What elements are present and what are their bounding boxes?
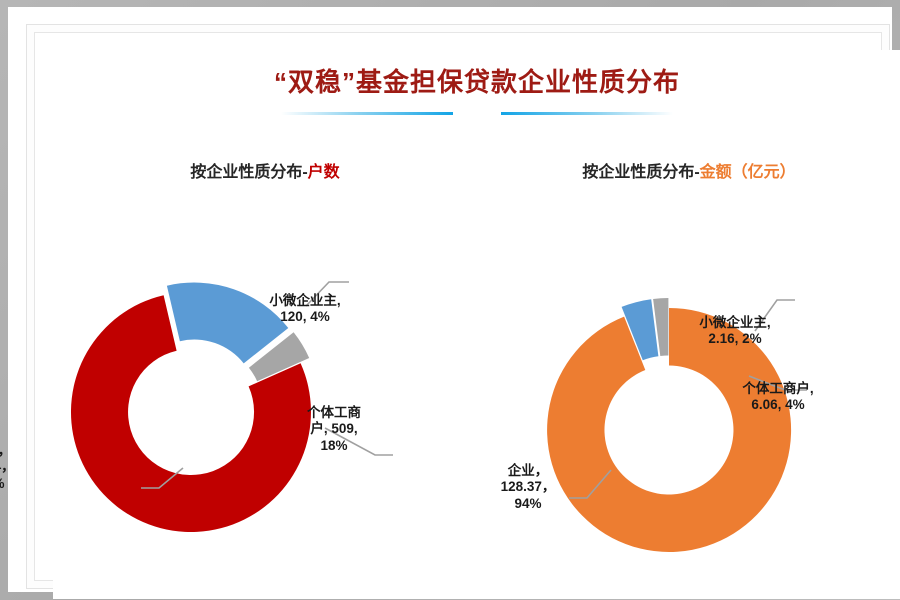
donut-chart-amount: 小微企业主, 2.16, 2% 个体工商户, 6.06, 4% 企业， 128.… [477,198,900,598]
title-underline-right [501,112,673,115]
data-label-micro-households: 小微企业主, 120, 4% [245,293,365,326]
slide-mid-frame: “双稳”基金担保贷款企业性质分布 按企业性质分布-户数 [8,7,892,592]
chart-panel-amount: 按企业性质分布-金额（亿元） [477,158,900,598]
slide-outer-frame: “双稳”基金担保贷款企业性质分布 按企业性质分布-户数 [0,0,900,600]
chart-subtitle-households: 按企业性质分布-户数 [53,158,477,182]
subtitle-accent: 户数 [308,164,340,181]
chart-panel-households: 按企业性质分布-户数 [53,158,477,598]
data-label-micro-amount: 小微企业主, 2.16, 2% [675,315,795,348]
data-label-enterprise-households: 企业， 2,244， 78% [0,443,39,492]
donut-svg-households [53,198,477,598]
page-title: “双稳”基金担保贷款企业性质分布 [53,62,900,99]
donut-svg-amount [477,198,900,598]
subtitle-prefix: 按企业性质分布- [582,164,699,181]
subtitle-prefix: 按企业性质分布- [190,164,307,181]
data-label-enterprise-amount: 企业， 128.37， 94% [473,463,583,512]
title-underline-left [281,112,453,115]
data-label-individual-households: 个体工商 户, 509, 18% [291,405,377,454]
slide-canvas: “双稳”基金担保贷款企业性质分布 按企业性质分布-户数 [53,50,900,599]
donut-chart-households: 小微企业主, 120, 4% 个体工商 户, 509, 18% 企业， 2,24… [53,198,477,598]
slide-inner-frame: “双稳”基金担保贷款企业性质分布 按企业性质分布-户数 [26,24,890,589]
subtitle-accent: 金额（亿元） [700,164,796,181]
chart-subtitle-amount: 按企业性质分布-金额（亿元） [477,158,900,182]
data-label-individual-amount: 个体工商户, 6.06, 4% [722,381,834,414]
